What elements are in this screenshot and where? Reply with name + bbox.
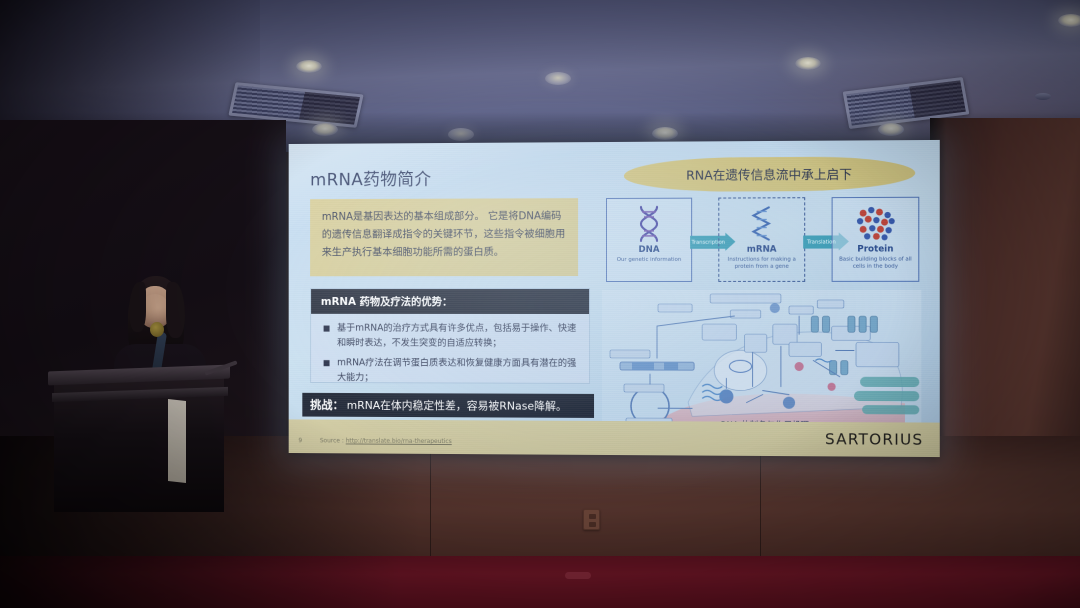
challenge-text: mRNA在体内稳定性差，容易被RNase降解。 [347, 397, 567, 414]
flow-card-title: DNA [638, 245, 659, 255]
list-item: ■ 基于mRNA的治疗方式具有许多优点，包括易于操作、快速和瞬时表达，不发生突变… [323, 321, 579, 351]
advantages-heading: mRNA 药物及疗法的优势： [311, 289, 589, 314]
flow-card-subtitle: Our genetic information [613, 257, 686, 264]
flow-card-dna: DNA Our genetic information [606, 198, 692, 282]
flow-card-title: Protein [857, 244, 893, 254]
flow-card-protein: Protein Basic building blocks of all cel… [832, 197, 920, 282]
source-citation: Source : http://translate.bio/rna-therap… [320, 437, 452, 445]
slide-title: mRNA药物简介 [310, 165, 431, 190]
podium-notes [168, 399, 186, 483]
ceiling-downlight-icon [1058, 14, 1080, 27]
challenge-bar: 挑战： mRNA在体内稳定性差，容易被RNase降解。 [302, 393, 594, 418]
slide-page-number: 9 [298, 437, 302, 444]
ceiling-fixture-icon [1035, 93, 1051, 100]
mechanism-schematic-icon [602, 290, 921, 434]
projection-screen: mRNA药物简介 RNA在遗传信息流中承上启下 mRNA是基因表达的基本组成部分… [289, 140, 940, 457]
presenter-hair-strand [166, 282, 185, 338]
ceiling-downlight-icon [652, 127, 678, 140]
flow-card-subtitle: Instructions for making a protein from a… [719, 257, 804, 272]
challenge-label: 挑战： [310, 397, 344, 413]
ceiling-downlight-icon [448, 128, 474, 141]
presentation-slide: mRNA药物简介 RNA在遗传信息流中承上启下 mRNA是基因表达的基本组成部分… [289, 140, 940, 457]
highlight-banner: RNA在遗传信息流中承上启下 [624, 156, 915, 192]
flow-card-subtitle: Basic building blocks of all cells in th… [833, 256, 919, 271]
ceiling-downlight-icon [878, 123, 904, 136]
microphone-head-icon [150, 322, 164, 337]
list-item: ■ mRNA疗法在调节蛋白质表达和恢复健康方面具有潜在的强大能力； [323, 355, 579, 386]
arrow-label: Transcription [691, 239, 725, 245]
list-item-label: 基于mRNA的治疗方式具有许多优点，包括易于操作、快速和瞬时表达，不发生突变的自… [337, 321, 579, 351]
bullet-square-icon: ■ [323, 355, 330, 385]
highlight-banner-text: RNA在遗传信息流中承上启下 [686, 163, 852, 183]
protein-structure-icon [854, 203, 897, 244]
central-dogma-flow-diagram: DNA Our genetic information Transcriptio… [606, 197, 919, 282]
dna-helix-icon [632, 204, 666, 244]
advantages-list: ■ 基于mRNA的治疗方式具有许多优点，包括易于操作、快速和瞬时表达，不发生突变… [311, 314, 589, 386]
slide-footer: 9 Source : http://translate.bio/rna-ther… [289, 419, 940, 457]
presenter-hair-strand [129, 282, 146, 332]
conference-hall-scene: mRNA药物简介 RNA在遗传信息流中承上启下 mRNA是基因表达的基本组成部分… [0, 0, 1080, 608]
intro-callout-box: mRNA是基因表达的基本组成部分。 它是将DNA编码的遗传信息翻译成指令的关键环… [310, 198, 578, 276]
floor-shadow [0, 556, 400, 608]
wall-seam [430, 436, 431, 556]
advantages-box: mRNA 药物及疗法的优势： ■ 基于mRNA的治疗方式具有许多优点，包括易于操… [310, 288, 590, 384]
sartorius-logo: SARTORIUS [825, 430, 923, 449]
bullet-square-icon: ■ [323, 321, 330, 351]
intro-paragraph: mRNA是基因表达的基本组成部分。 它是将DNA编码的遗传信息翻译成指令的关键环… [322, 207, 566, 261]
source-prefix: Source : [320, 437, 344, 444]
wall-outlet-icon [583, 509, 600, 530]
source-url[interactable]: http://translate.bio/rna-therapeutics [346, 438, 452, 446]
mrna-strand-icon [747, 203, 777, 243]
mechanism-diagram: mRNA 的制备与作用机理 [602, 290, 921, 434]
arrow-label: Translation [807, 239, 836, 245]
ceiling-downlight-icon [296, 60, 322, 73]
ceiling-downlight-icon [312, 123, 338, 136]
flow-card-title: mRNA [747, 245, 777, 255]
floor-object [565, 572, 591, 579]
ceiling-downlight-icon [545, 72, 571, 85]
ceiling-downlight-icon [795, 57, 821, 70]
list-item-label: mRNA疗法在调节蛋白质表达和恢复健康方面具有潜在的强大能力； [337, 355, 579, 386]
flow-card-mrna: mRNA Instructions for making a protein f… [718, 197, 805, 282]
